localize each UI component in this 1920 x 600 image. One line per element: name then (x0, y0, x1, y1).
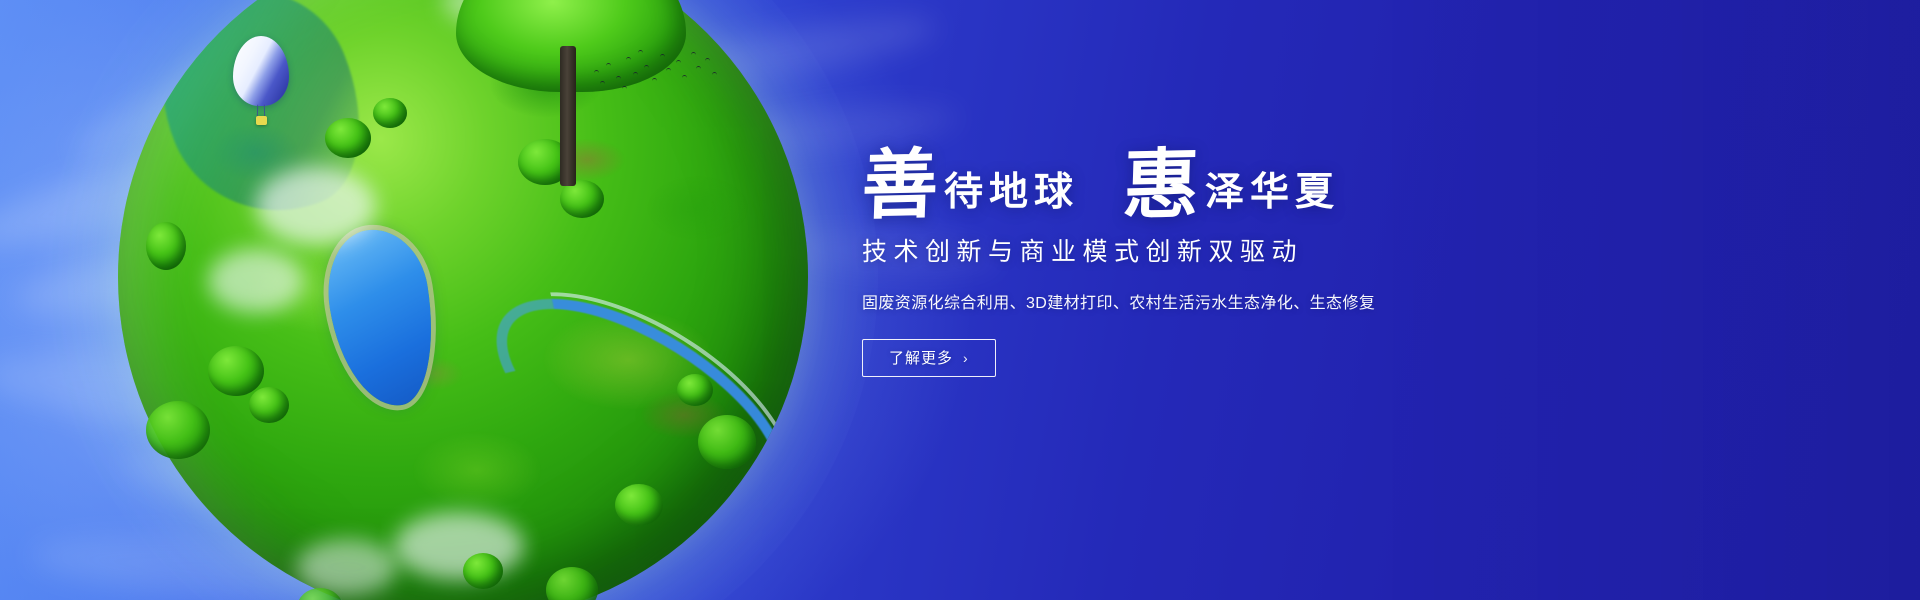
bird-icon (594, 70, 599, 73)
bird-icon (652, 78, 657, 81)
mist-cloud (256, 167, 376, 245)
flock-of-birds (592, 48, 722, 94)
rim-tree (698, 415, 756, 469)
bird-icon (676, 60, 681, 63)
headline-small-text-2: 泽华夏 (1205, 173, 1340, 220)
bird-icon (644, 65, 649, 68)
tree-cluster (373, 98, 407, 128)
headline-group-two: 惠 泽华夏 (1123, 150, 1340, 220)
learn-more-button[interactable]: 了解更多 › (862, 339, 996, 377)
bird-icon (622, 86, 627, 89)
mist-cloud (394, 512, 524, 580)
headline-group-one: 善 待地球 (862, 150, 1079, 220)
bird-icon (660, 54, 665, 57)
bird-icon (682, 75, 687, 78)
tree-cluster (615, 484, 663, 526)
chevron-right-icon: › (963, 350, 969, 366)
large-tree (456, 0, 686, 192)
bird-icon (705, 58, 710, 61)
tree-cluster (463, 553, 503, 589)
tree-cluster (146, 222, 186, 270)
page-title: 善 待地球 惠 泽华夏 (862, 128, 1562, 220)
bird-icon (616, 76, 621, 79)
headline-big-char-2: 惠 (1122, 149, 1200, 220)
bird-icon (712, 72, 717, 75)
balloon-envelope (233, 36, 289, 106)
hero-banner: 善 待地球 惠 泽华夏 技术创新与商业模式创新双驱动 固废资源化综合利用、3D建… (0, 0, 1920, 600)
balloon-basket (256, 116, 267, 125)
rim-tree (146, 401, 210, 459)
bird-icon (600, 81, 605, 84)
hero-description: 固废资源化综合利用、3D建材打印、农村生活污水生态净化、生态修复 (862, 289, 1562, 313)
bird-icon (633, 72, 638, 75)
bird-icon (626, 57, 631, 60)
bird-icon (696, 66, 701, 69)
bird-icon (691, 52, 696, 55)
headline-big-char-1: 善 (861, 149, 939, 220)
hot-air-balloon (233, 36, 289, 132)
tree-trunk (560, 46, 576, 186)
hero-subtitle: 技术创新与商业模式创新双驱动 (862, 236, 1562, 269)
tree-cluster (208, 346, 264, 396)
tree-cluster (677, 374, 713, 406)
learn-more-label: 了解更多 (889, 347, 953, 368)
headline-small-text-1: 待地球 (944, 173, 1079, 220)
bird-icon (638, 50, 643, 53)
bird-icon (606, 63, 611, 66)
hero-content: 善 待地球 惠 泽华夏 技术创新与商业模式创新双驱动 固废资源化综合利用、3D建… (862, 128, 1562, 377)
mist-cloud (208, 249, 304, 313)
bird-icon (666, 68, 671, 71)
